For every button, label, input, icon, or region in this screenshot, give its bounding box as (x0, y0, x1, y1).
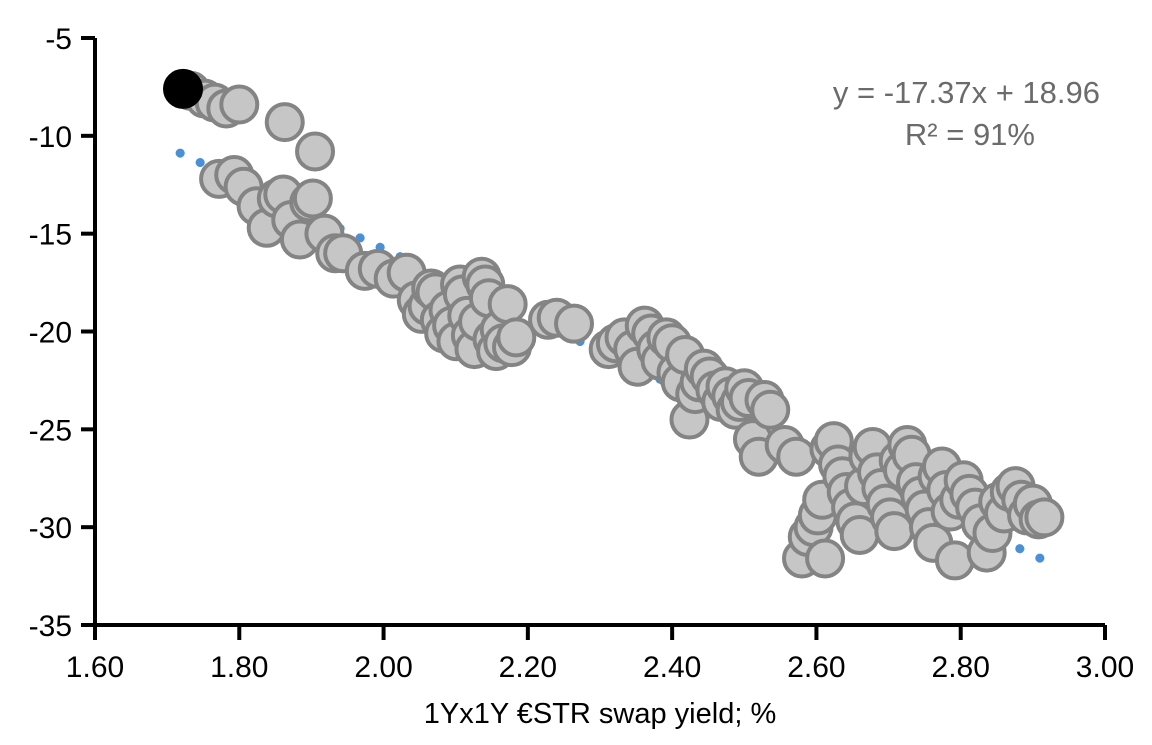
y-axis-tick-label: -35 (29, 610, 72, 643)
x-axis-tick-label: 1.80 (210, 651, 268, 684)
r-squared-label: R² = 91% (905, 117, 1035, 152)
x-axis-tick-label: 1.60 (66, 651, 124, 684)
x-axis-tick-label: 2.80 (932, 651, 990, 684)
highlighted-data-point-marker (165, 71, 201, 107)
y-axis-tick-label: -30 (29, 512, 72, 545)
chart-canvas: -5-10-15-20-25-30-35 1.601.802.002.202.4… (0, 0, 1152, 745)
y-axis-tick-label: -15 (29, 219, 72, 252)
data-point (295, 180, 331, 216)
highlighted-data-point (165, 71, 201, 107)
data-point (297, 133, 333, 169)
data-point (778, 439, 814, 475)
data-point (490, 286, 526, 322)
scatter-chart: -5-10-15-20-25-30-35 1.601.802.002.202.4… (0, 0, 1152, 745)
data-point (807, 540, 843, 576)
data-point (267, 104, 303, 140)
x-axis-title: 1Yx1Y €STR swap yield; % (424, 698, 776, 730)
data-point (221, 87, 257, 123)
chart-background (0, 0, 1152, 745)
data-point (1026, 499, 1062, 535)
x-axis-tick-label: 2.40 (643, 651, 701, 684)
regression-equation-label: y = -17.37x + 18.96 (833, 75, 1100, 110)
y-axis-tick-label: -5 (45, 23, 72, 56)
x-axis-tick-label: 2.60 (787, 651, 845, 684)
data-point (556, 306, 592, 342)
x-axis-tick-label: 3.00 (1076, 651, 1134, 684)
data-point (752, 392, 788, 428)
y-axis-tick-label: -25 (29, 414, 72, 447)
y-axis-tick-label: -10 (29, 121, 72, 154)
y-axis-tick-label: -20 (29, 317, 72, 350)
x-axis-tick-label: 2.00 (354, 651, 412, 684)
x-axis-tick-label: 2.20 (499, 651, 557, 684)
